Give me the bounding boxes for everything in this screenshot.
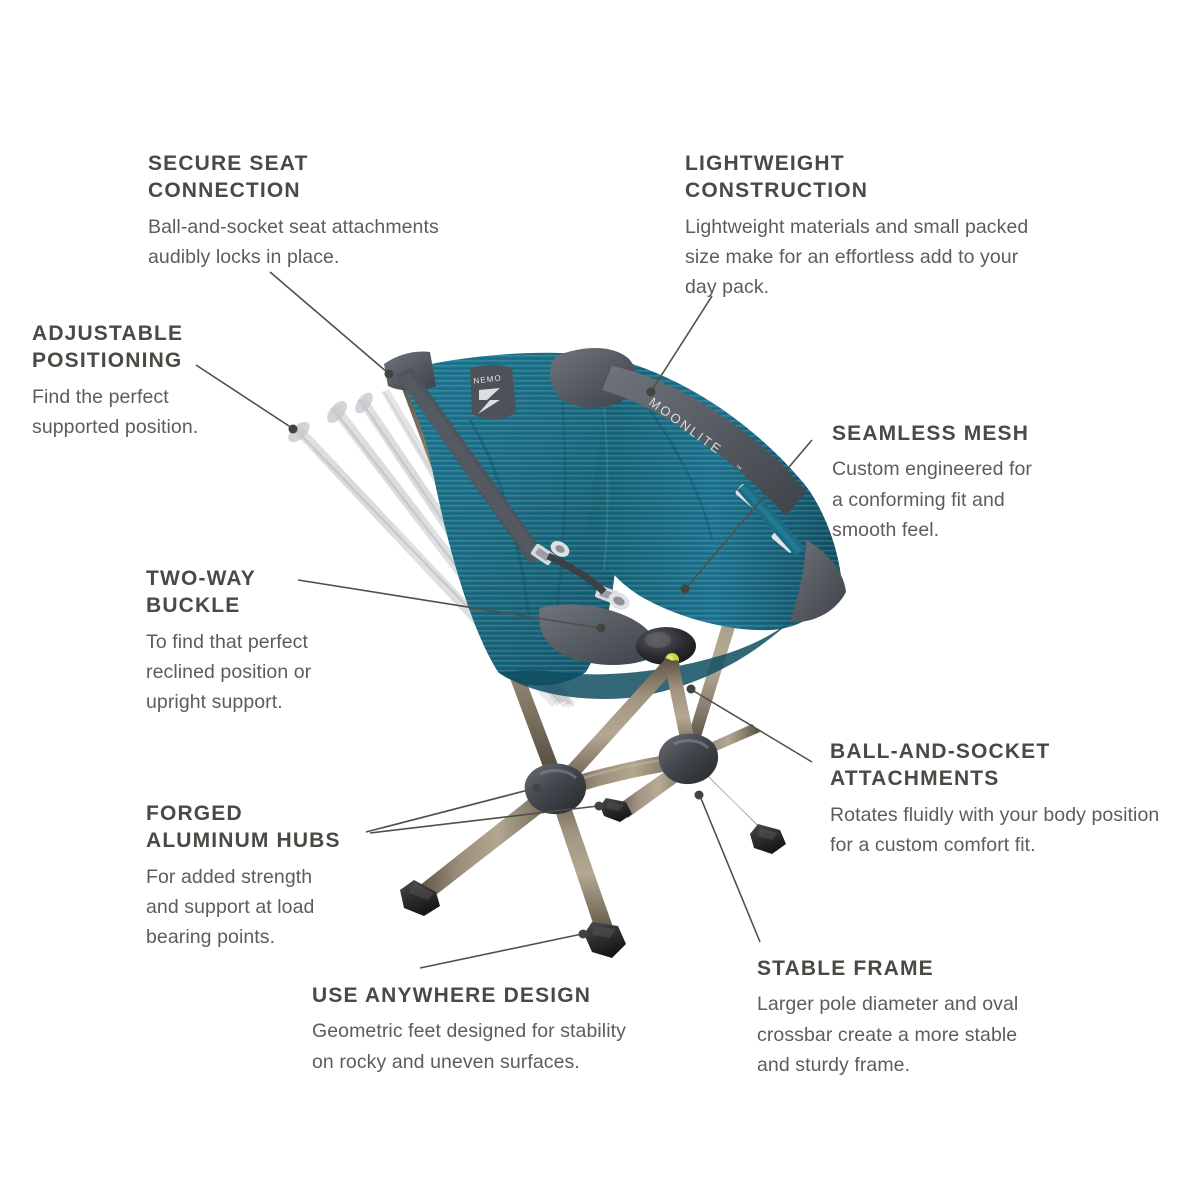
callout-lightweight-construction: LIGHTWEIGHT CONSTRUCTION Lightweight mat… — [685, 150, 1085, 303]
callout-body: Ball-and-socket seat attachments audibly… — [148, 212, 488, 273]
callout-title: BALL-AND-SOCKET ATTACHMENTS — [830, 738, 1180, 793]
nemo-logo-patch: NEMO — [470, 365, 516, 419]
callout-body: For added strength and support at load b… — [146, 862, 426, 953]
product-feature-diagram: NEMO MOONLITE ™ — [0, 0, 1200, 1200]
callout-adjustable-positioning: ADJUSTABLE POSITIONING Find the perfect … — [32, 320, 282, 442]
callout-body: To find that perfect reclined position o… — [146, 627, 406, 718]
callout-ball-and-socket-attachments: BALL-AND-SOCKET ATTACHMENTS Rotates flui… — [830, 738, 1180, 860]
callout-stable-frame: STABLE FRAME Larger pole diameter and ov… — [757, 955, 1077, 1081]
callout-body: Lightweight materials and small packed s… — [685, 212, 1085, 303]
callout-title: ADJUSTABLE POSITIONING — [32, 320, 282, 375]
callout-title: TWO-WAY BUCKLE — [146, 565, 406, 620]
callout-title: SECURE SEAT CONNECTION — [148, 150, 488, 205]
callout-seamless-mesh: SEAMLESS MESH Custom engineered for a co… — [832, 420, 1112, 546]
callout-title: STABLE FRAME — [757, 955, 1077, 982]
callout-body: Find the perfect supported position. — [32, 382, 282, 443]
callout-forged-aluminum-hubs: FORGED ALUMINUM HUBS For added strength … — [146, 800, 426, 953]
callout-title: SEAMLESS MESH — [832, 420, 1112, 447]
callout-title: USE ANYWHERE DESIGN — [312, 982, 692, 1009]
callout-secure-seat-connection: SECURE SEAT CONNECTION Ball-and-socket s… — [148, 150, 488, 272]
callout-body: Geometric feet designed for stability on… — [312, 1016, 692, 1077]
chair-frame-legs — [419, 658, 778, 935]
callout-title: FORGED ALUMINUM HUBS — [146, 800, 426, 855]
callout-use-anywhere-design: USE ANYWHERE DESIGN Geometric feet desig… — [312, 982, 692, 1077]
callout-body: Rotates fluidly with your body position … — [830, 800, 1180, 861]
callout-body: Custom engineered for a conforming fit a… — [832, 454, 1112, 545]
callout-title: LIGHTWEIGHT CONSTRUCTION — [685, 150, 1085, 205]
callout-two-way-buckle: TWO-WAY BUCKLE To find that perfect recl… — [146, 565, 406, 718]
forged-aluminum-hub-right — [659, 734, 718, 784]
callout-body: Larger pole diameter and oval crossbar c… — [757, 989, 1077, 1080]
